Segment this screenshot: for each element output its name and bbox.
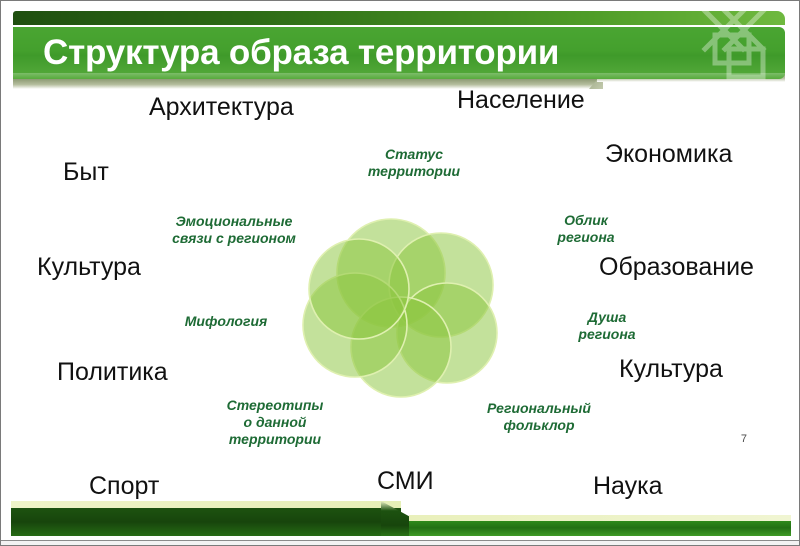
slide-canvas: Структура образа территории: [0, 0, 800, 546]
outer-label-culture-right: Культура: [619, 356, 723, 384]
outer-label-architecture: Архитектура: [149, 94, 294, 122]
header-top-strip: [13, 11, 785, 25]
slide-header: Структура образа территории: [1, 1, 800, 93]
footer-left-highlight: [11, 501, 401, 508]
outer-label-everyday-life: Быт: [63, 159, 109, 187]
outer-label-politics: Политика: [57, 359, 168, 387]
overlapping-circles-rosette: [289, 215, 533, 399]
outer-label-population: Население: [457, 87, 585, 115]
inner-label-region-soul: Душа региона: [557, 309, 657, 343]
slide-footer: [1, 493, 800, 545]
inner-label-regional-folklore: Региональный фольклор: [464, 400, 614, 434]
inner-label-mythology: Мифология: [161, 313, 291, 330]
page-number: 7: [741, 433, 747, 445]
inner-label-region-appearance: Облик региона: [531, 212, 641, 246]
page-title: Структура образа территории: [43, 26, 683, 80]
inner-label-territory-status: Статус территории: [354, 146, 474, 180]
outer-label-education: Образование: [599, 254, 754, 282]
outer-label-culture-left: Культура: [37, 254, 141, 282]
outer-label-economy: Экономика: [605, 141, 732, 169]
footer-right-bar: [409, 521, 791, 536]
rosette-circle: [309, 239, 409, 339]
inner-label-emotional-ties: Эмоциональные связи с регионом: [144, 213, 324, 247]
outer-label-mass-media: СМИ: [377, 468, 434, 496]
footer-left-bar: [11, 508, 401, 536]
footer-baseline: [1, 540, 800, 545]
inner-label-stereotypes: Стереотипы о данной территории: [200, 397, 350, 448]
